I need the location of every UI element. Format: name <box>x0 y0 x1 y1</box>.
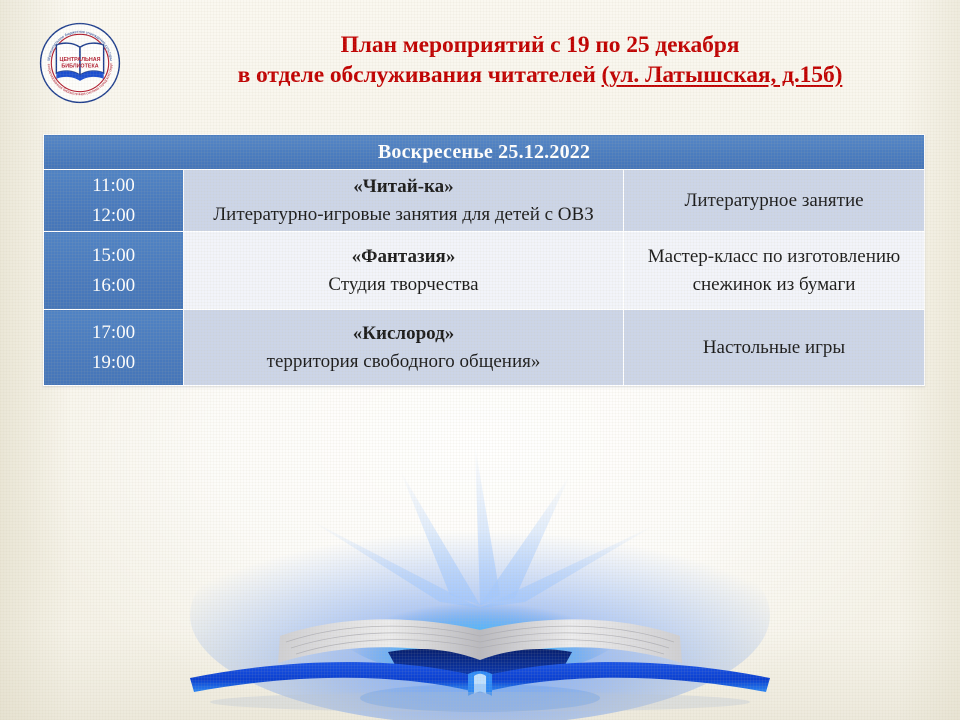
event-subtitle: Литературно-игровые занятия для детей с … <box>184 201 623 229</box>
table-row: 17:00 19:00 «Кислород» территория свобод… <box>44 310 925 386</box>
event-title: «Читай-ка» <box>184 173 623 201</box>
open-book-illustration <box>150 430 810 720</box>
time-start: 11:00 <box>44 171 183 201</box>
svg-text:ЦЕНТРАЛЬНАЯ: ЦЕНТРАЛЬНАЯ <box>60 57 101 63</box>
table-row: 11:00 12:00 «Читай-ка» Литературно-игров… <box>44 170 925 232</box>
time-start: 17:00 <box>44 318 183 348</box>
event-title: «Фантазия» <box>184 243 623 271</box>
table-header-row: Воскресенье 25.12.2022 <box>44 135 925 170</box>
event-title: «Кислород» <box>184 320 623 348</box>
time-cell: 11:00 12:00 <box>44 170 184 232</box>
time-end: 19:00 <box>44 348 183 378</box>
description-cell: Настольные игры <box>624 310 925 386</box>
description-cell: Мастер-класс по изготовлению снежинок из… <box>624 232 925 310</box>
event-cell: «Кислород» территория свободного общения… <box>184 310 624 386</box>
title-line-2-plain: в отделе обслуживания читателей <box>238 62 602 88</box>
svg-text:БИБЛИОТЕКА: БИБЛИОТЕКА <box>61 63 98 69</box>
slide-title: План мероприятий с 19 по 25 декабря в от… <box>140 30 940 90</box>
title-line-1: План мероприятий с 19 по 25 декабря <box>140 30 940 60</box>
time-start: 15:00 <box>44 241 183 271</box>
event-subtitle: Студия творчества <box>184 271 623 299</box>
table-row: 15:00 16:00 «Фантазия» Студия творчества… <box>44 232 925 310</box>
slide-canvas: ЦЕНТРАЛЬНАЯ БИБЛИОТЕКА Муниципальное бюд… <box>0 0 960 720</box>
time-cell: 15:00 16:00 <box>44 232 184 310</box>
schedule-table: Воскресенье 25.12.2022 11:00 12:00 «Чита… <box>43 134 925 386</box>
time-cell: 17:00 19:00 <box>44 310 184 386</box>
title-address-underlined: (ул. Латышская, д.15б) <box>602 62 843 88</box>
time-end: 12:00 <box>44 201 183 231</box>
event-cell: «Читай-ка» Литературно-игровые занятия д… <box>184 170 624 232</box>
description-cell: Литературное занятие <box>624 170 925 232</box>
table-date-header: Воскресенье 25.12.2022 <box>44 135 925 170</box>
event-cell: «Фантазия» Студия творчества <box>184 232 624 310</box>
library-logo: ЦЕНТРАЛЬНАЯ БИБЛИОТЕКА Муниципальное бюд… <box>37 20 123 106</box>
time-end: 16:00 <box>44 271 183 301</box>
title-line-2: в отделе обслуживания читателей (ул. Лат… <box>140 60 940 90</box>
event-subtitle: территория свободного общения» <box>184 348 623 376</box>
